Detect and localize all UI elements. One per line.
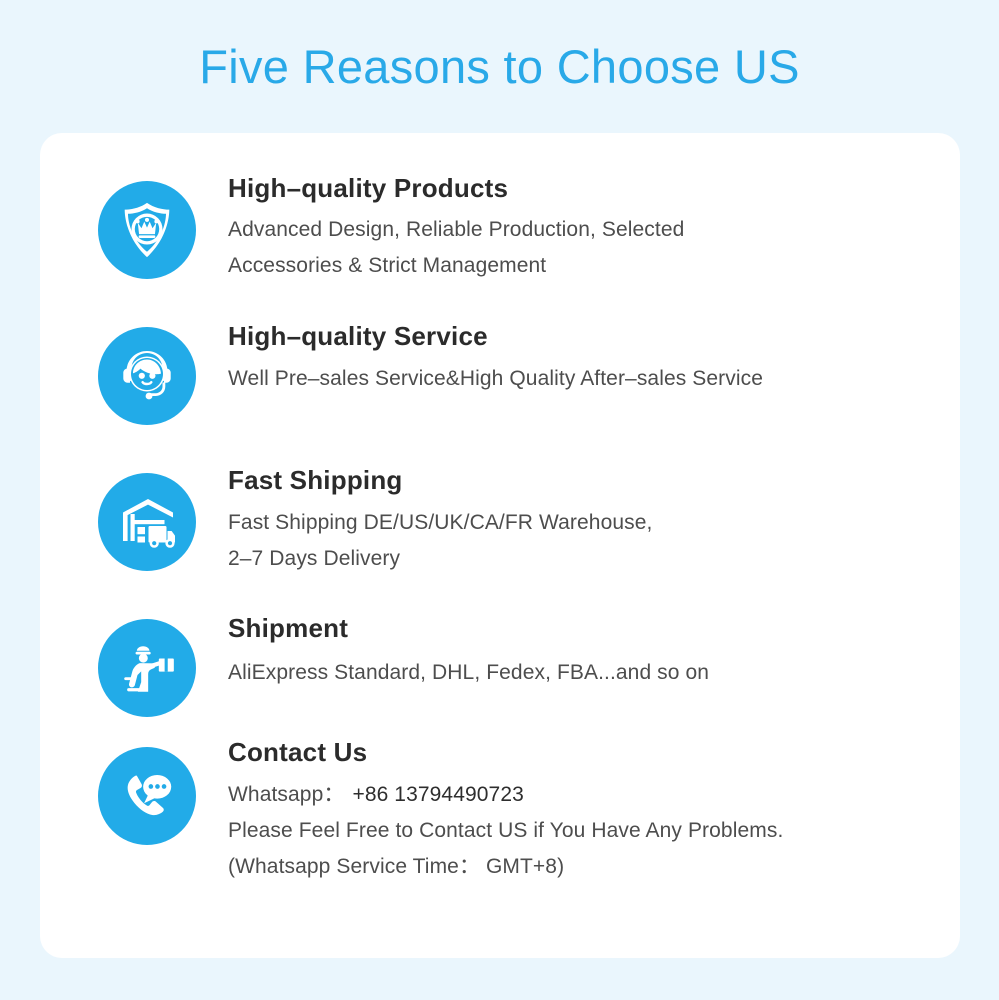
promo-page: Five Reasons to Choose US High–quality <box>0 0 999 1000</box>
whatsapp-label: Whatsapp： <box>228 783 344 806</box>
reason-title: High–quality Service <box>228 317 938 355</box>
phone-chat-icon <box>98 747 196 845</box>
reason-text-block: Fast Shipping Fast Shipping DE/US/UK/CA/… <box>196 461 938 577</box>
reason-title: Shipment <box>228 609 938 647</box>
reason-text-block: High–quality Service Well Pre–sales Serv… <box>196 315 938 397</box>
reasons-card: High–quality Products Advanced Design, R… <box>40 133 960 958</box>
shield-crown-icon <box>98 181 196 279</box>
reason-description: Advanced Design, Reliable Production, Se… <box>228 212 938 284</box>
reason-title: Fast Shipping <box>228 461 938 499</box>
reason-row-shipment: Shipment AliExpress Standard, DHL, Fedex… <box>98 607 938 717</box>
reason-title: High–quality Products <box>228 169 938 207</box>
reason-title: Contact Us <box>228 733 938 771</box>
reason-description-line: Accessories & Strict Management <box>228 248 938 284</box>
whatsapp-number[interactable]: +86 13794490723 <box>344 783 523 806</box>
reason-description: Well Pre–sales Service&High Quality Afte… <box>228 361 938 397</box>
reason-text-block: Shipment AliExpress Standard, DHL, Fedex… <box>196 607 938 691</box>
reason-description-line: Well Pre–sales Service&High Quality Afte… <box>228 361 938 397</box>
reason-row-high-quality-products: High–quality Products Advanced Design, R… <box>98 169 938 284</box>
reason-description-line: Fast Shipping DE/US/UK/CA/FR Warehouse, <box>228 505 938 541</box>
reason-description: AliExpress Standard, DHL, Fedex, FBA...a… <box>228 655 938 691</box>
reason-description: Whatsapp：+86 13794490723 Please Feel Fre… <box>228 777 938 885</box>
reason-text-block: High–quality Products Advanced Design, R… <box>196 169 938 284</box>
page-title: Five Reasons to Choose US <box>0 36 999 98</box>
reason-description-line: Please Feel Free to Contact US if You Ha… <box>228 813 938 849</box>
delivery-person-icon <box>98 619 196 717</box>
headset-agent-icon <box>98 327 196 425</box>
reason-description-line: (Whatsapp Service Time： GMT+8) <box>228 849 938 885</box>
reason-description-line: 2–7 Days Delivery <box>228 541 938 577</box>
reason-row-contact-us: Contact Us Whatsapp：+86 13794490723 Plea… <box>98 729 938 885</box>
reason-row-fast-shipping: Fast Shipping Fast Shipping DE/US/UK/CA/… <box>98 461 938 577</box>
warehouse-truck-icon <box>98 473 196 571</box>
reason-description: Fast Shipping DE/US/UK/CA/FR Warehouse, … <box>228 505 938 577</box>
reason-description-line: AliExpress Standard, DHL, Fedex, FBA...a… <box>228 655 938 691</box>
reason-text-block: Contact Us Whatsapp：+86 13794490723 Plea… <box>196 729 938 885</box>
whatsapp-contact-line: Whatsapp：+86 13794490723 <box>228 777 938 813</box>
reason-row-high-quality-service: High–quality Service Well Pre–sales Serv… <box>98 315 938 425</box>
reason-description-line: Advanced Design, Reliable Production, Se… <box>228 212 938 248</box>
